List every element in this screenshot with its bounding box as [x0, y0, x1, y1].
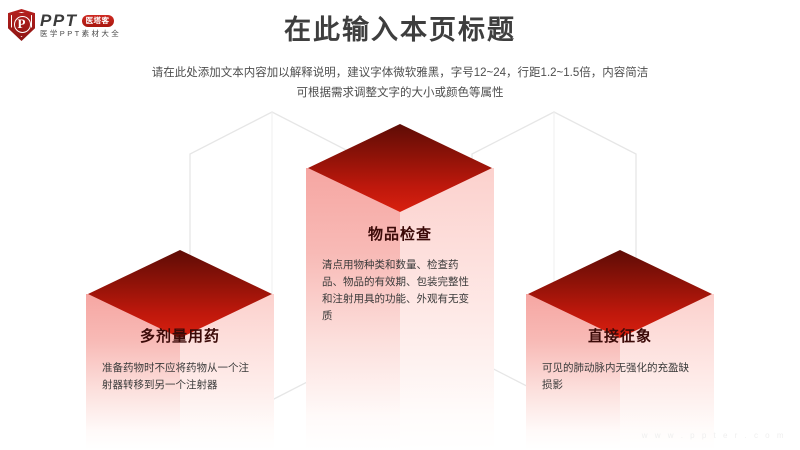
pillar-left-text: 多剂量用药 准备药物时不应将药物从一个注射器转移到另一个注射器 [86, 294, 274, 394]
pillar-right[interactable]: 直接征象 可见的肺动脉内无强化的充盈缺损影 [526, 248, 714, 450]
pillar-left[interactable]: 多剂量用药 准备药物时不应将药物从一个注射器转移到另一个注射器 [86, 248, 274, 450]
pillar-right-title: 直接征象 [542, 328, 698, 346]
pillar-right-body: 直接征象 可见的肺动脉内无强化的充盈缺损影 [526, 294, 714, 450]
pillar-left-desc: 准备药物时不应将药物从一个注射器转移到另一个注射器 [102, 360, 258, 394]
subtitle-line-1: 请在此处添加文本内容加以解释说明，建议字体微软雅黑，字号12~24，行距1.2~… [50, 63, 750, 83]
pillar-middle-desc: 清点用物种类和数量、检查药品、物品的有效期、包装完整性和注射用具的功能、外观有无… [322, 257, 478, 325]
pillar-middle-text: 物品检查 清点用物种类和数量、检查药品、物品的有效期、包装完整性和注射用具的功能… [306, 168, 494, 325]
page-title: 在此输入本页标题 [0, 14, 800, 46]
pillar-right-desc: 可见的肺动脉内无强化的充盈缺损影 [542, 360, 698, 394]
pillar-middle-body: 物品检查 清点用物种类和数量、检查药品、物品的有效期、包装完整性和注射用具的功能… [306, 168, 494, 450]
pillar-left-body: 多剂量用药 准备药物时不应将药物从一个注射器转移到另一个注射器 [86, 294, 274, 450]
pillar-left-title: 多剂量用药 [102, 328, 258, 346]
pillar-diagram: 物品检查 清点用物种类和数量、检查药品、物品的有效期、包装完整性和注射用具的功能… [0, 100, 800, 450]
pillar-right-text: 直接征象 可见的肺动脉内无强化的充盈缺损影 [526, 294, 714, 394]
pillar-middle-title: 物品检查 [322, 226, 478, 244]
page-subtitle: 请在此处添加文本内容加以解释说明，建议字体微软雅黑，字号12~24，行距1.2~… [50, 63, 750, 103]
site-watermark: w w w . p p t e r . c o m [642, 431, 786, 440]
pillar-middle[interactable]: 物品检查 清点用物种类和数量、检查药品、物品的有效期、包装完整性和注射用具的功能… [306, 122, 494, 450]
